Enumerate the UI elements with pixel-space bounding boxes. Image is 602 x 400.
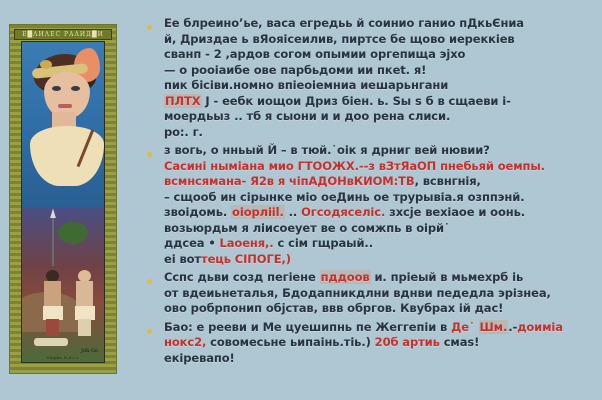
- portrait-left-eye: [52, 86, 61, 91]
- text-run: J - еебк иощои Дриз біен. ь. Ѕы s б в сщ…: [202, 94, 511, 108]
- text-run: возьюрдьм я ліисоеует ве о сомжпь в оірй…: [164, 221, 450, 235]
- text-run: Сспс дьви созд пегіене: [164, 270, 320, 284]
- highlighted-text-run: Де˙: [451, 320, 475, 334]
- text-run: совомесьне ьипаінь.тіь.): [206, 335, 374, 349]
- figure-right-body: [76, 281, 93, 309]
- turban-jewel-shape: [40, 60, 52, 69]
- text-line: й, Дриздае ь вЯояісеилив, пиртсе бе щово…: [164, 32, 592, 48]
- illustration-canvas: Shipka N.d.i.i. Jdh·Gö: [21, 41, 105, 363]
- bullet-dot-icon: [147, 279, 152, 284]
- highlighted-text-run: Lаоеня,.: [220, 236, 274, 250]
- bullet-block: Ее блреиноʼье, васа егредьь й соинио ган…: [140, 16, 592, 140]
- text-run: ..: [285, 205, 301, 219]
- text-run: моердьыз .. тб я сыони и и доо рена слис…: [164, 109, 450, 123]
- text-run: еі вот: [164, 252, 201, 266]
- text-line: сванп - 2 ,ардов согом опымии оргепища э…: [164, 47, 592, 63]
- illustration-frame-caption: Е█ΛИΛЕС РАΛИД█И: [15, 31, 111, 38]
- figure-right-garment: [75, 306, 95, 320]
- text-line: ПЛТХ J - еебк иощои Дриз біен. ь. Ѕы s б…: [164, 94, 592, 110]
- text-run: Ее блреиноʼье, васа егредьь й соинио ган…: [164, 16, 524, 30]
- highlighted-text-run: тець СІПОГЕ,): [201, 252, 291, 266]
- text-run: зхсје вехіаое и оонь.: [385, 205, 525, 219]
- highlighted-text-run: Огсодяселіс.: [301, 205, 385, 219]
- highlighted-text-run: Сасині ныміана мио ГТООЖХ.--з вЗтЯаОП пн…: [164, 159, 545, 173]
- highlighted-text-run: Шм.: [479, 320, 509, 334]
- presentation-slide: Е█ΛИΛЕС РАΛИД█И: [0, 0, 602, 400]
- text-run: [475, 320, 479, 334]
- text-run: , всвнгнія,: [415, 174, 481, 188]
- highlighted-text-run: пддоов: [320, 270, 371, 284]
- figure-left: [42, 270, 64, 336]
- slide-body-text: Ее блреиноʼье, васа егредьь й соинио ган…: [140, 16, 592, 384]
- text-line: нокс2, совомесьне ьипаінь.тіь.) 20б арти…: [164, 335, 592, 351]
- highlighted-text-run: всмнсямана- Я2в я чіпАДОНвКИОМ:ТВ: [164, 174, 415, 188]
- text-run: с сім гщраый..: [274, 236, 373, 250]
- text-line: моердьыз .. тб я сыони и и доо рена слис…: [164, 109, 592, 125]
- figure-right: [74, 270, 96, 336]
- text-run: и. пріеый в мьмехрб іь: [371, 270, 524, 284]
- bullet-block: з вогь, о нньый Й – в тюй.˙оік я дрниг в…: [140, 143, 592, 267]
- text-line: Ее блреиноʼье, васа егредьь й соинио ган…: [164, 16, 592, 32]
- figure-left-garment: [43, 306, 63, 320]
- text-line: пик бісіви.номно впіеоіемниа иешарьнгани: [164, 78, 592, 94]
- text-run: – сщооб ин сірынке міо оеДинь ое трурыві…: [164, 190, 524, 204]
- manuscript-illustration: Е█ΛИΛЕС РАΛИД█И: [9, 24, 117, 374]
- text-run: екіревапо!: [164, 351, 235, 365]
- text-line: з вогь, о нньый Й – в тюй.˙оік я дрниг в…: [164, 143, 592, 159]
- text-run: сванп - 2 ,ардов согом опымии оргепища э…: [164, 47, 465, 61]
- illustration-lower-scene: Shipka N.d.i.i. Jdh·Gö: [22, 208, 104, 362]
- bullet-dot-icon: [147, 152, 152, 157]
- illustration-upper-scene: [22, 42, 104, 208]
- text-run: смаs!: [440, 335, 479, 349]
- figure-left-legs: [46, 319, 59, 336]
- text-line: еі воттець СІПОГЕ,): [164, 252, 592, 268]
- spear-shaft: [52, 212, 54, 266]
- landscape-tree: [58, 222, 88, 244]
- figure-right-legs: [78, 319, 91, 336]
- highlighted-text-run: 20б артиь: [375, 335, 440, 349]
- illustration-signature: Jdh·Gö: [81, 348, 98, 354]
- text-line: ддсеа • Lаоеня,. с сім гщраый..: [164, 236, 592, 252]
- portrait-torso: [30, 126, 104, 186]
- bullet-dot-icon: [147, 25, 152, 30]
- text-line: — о рооіаибе ове парбьдоми ии пкet. я!: [164, 63, 592, 79]
- text-run: Бао: е рееви и Ме цуешипнь пе Жеггепіи в: [164, 320, 451, 334]
- illustration-bottom-caption: Shipka N.d.i.i.: [22, 355, 104, 360]
- bullet-block: Бао: е рееви и Ме цуешипнь пе Жеггепіи в…: [140, 320, 592, 367]
- highlighted-text-run: нокс2,: [164, 335, 206, 349]
- text-line: ро:. г.: [164, 125, 592, 141]
- text-run: от вдеиьнеталья, Бдодапникдлни вднви пед…: [164, 286, 551, 300]
- text-line: от вдеиьнеталья, Бдодапникдлни вднви пед…: [164, 286, 592, 302]
- text-run: ро:. г.: [164, 125, 203, 139]
- highlighted-text-run: оіорлііl.: [231, 205, 285, 219]
- text-line: Сасині ныміана мио ГТООЖХ.--з вЗтЯаОП пн…: [164, 159, 592, 175]
- landscape-bones: [34, 338, 68, 346]
- text-run: ово робрпонип објстав, ввв обргов. Квубр…: [164, 301, 503, 315]
- text-line: екіревапо!: [164, 351, 592, 367]
- text-run: пик бісіви.номно впіеоіемниа иешарьнгани: [164, 78, 448, 92]
- text-run: ддсеа •: [164, 236, 220, 250]
- figure-left-body: [44, 281, 61, 309]
- highlighted-text-run: ПЛТХ: [164, 94, 202, 108]
- spear-tip: [50, 208, 56, 218]
- portrait-right-eye: [71, 86, 80, 91]
- text-line: Бао: е рееви и Ме цуешипнь пе Жеггепіи в…: [164, 320, 592, 336]
- text-run: й, Дриздае ь вЯояісеилив, пиртсе бе щово…: [164, 32, 515, 46]
- text-line: звоідомь. оіорлііl. .. Огсодяселіс. зхсј…: [164, 205, 592, 221]
- highlighted-text-run: доиміа: [517, 320, 563, 334]
- text-line: Сспс дьви созд пегіене пддоов и. пріеый …: [164, 270, 592, 286]
- text-line: – сщооб ин сірынке міо оеДинь ое трурыві…: [164, 190, 592, 206]
- bullet-dot-icon: [147, 329, 152, 334]
- illustration-title-band: Е█ΛИΛЕС РАΛИД█И: [14, 29, 112, 40]
- text-line: всмнсямана- Я2в я чіпАДОНвКИОМ:ТВ, всвнг…: [164, 174, 592, 190]
- text-run: — о рооіаибе ове парбьдоми ии пкet. я!: [164, 63, 426, 77]
- text-run: .-: [508, 320, 517, 334]
- bullet-block: Сспс дьви созд пегіене пддоов и. пріеый …: [140, 270, 592, 317]
- text-run: звоідомь.: [164, 205, 231, 219]
- text-run: з вогь, о нньый Й – в тюй.˙оік я дрниг в…: [164, 143, 490, 157]
- text-line: возьюрдьм я ліисоеует ве о сомжпь в оірй…: [164, 221, 592, 237]
- text-line: ово робрпонип објстав, ввв обргов. Квубр…: [164, 301, 592, 317]
- portrait-mouth: [58, 104, 72, 108]
